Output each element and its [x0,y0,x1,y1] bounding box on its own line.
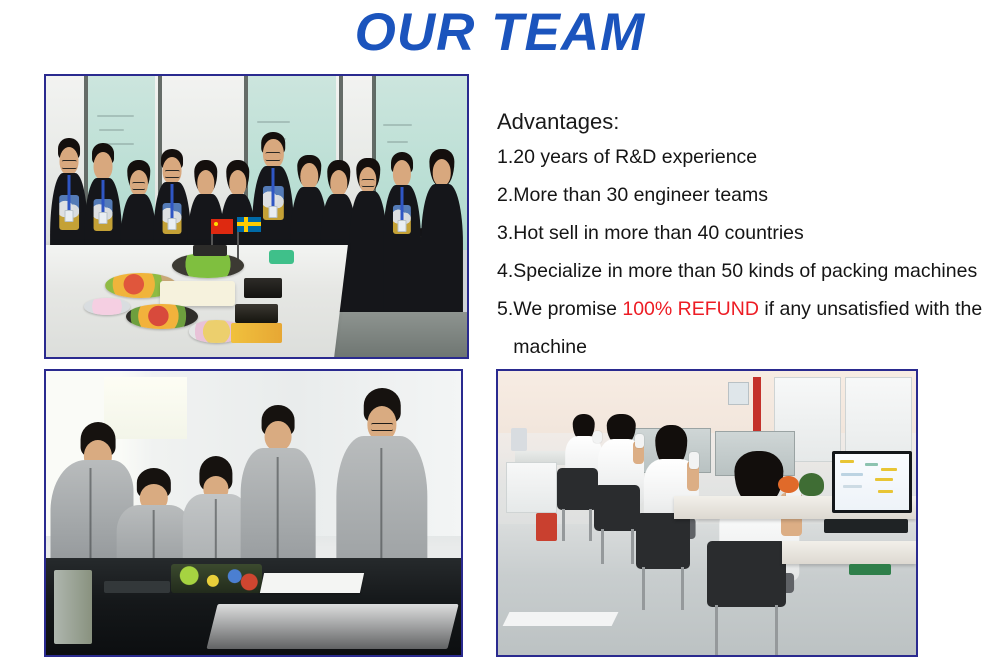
advantages-block: Advantages: 1. 20 years of R&D experienc… [497,106,1000,366]
list-item: 1. 20 years of R&D experience [497,138,1000,176]
list-item-text: 20 years of R&D experience [513,138,1000,176]
engineers-photo [44,369,463,657]
list-item-text: More than 30 engineer teams [513,176,1000,214]
office-photo [496,369,918,657]
monitor-icon [832,451,911,513]
list-item-number: 3. [497,214,513,252]
list-item-number: 4. [497,252,513,290]
list-item-text: Specialize in more than 50 kinds of pack… [513,252,1000,290]
office-photo-content [498,371,916,655]
our-team-section: OUR TEAM [0,0,1000,666]
refund-text-before: We promise [513,298,622,320]
plant-icon [799,473,824,496]
list-item-number: 1. [497,138,513,176]
list-item: 5. We promise 100% REFUND if any unsatis… [497,290,1000,366]
list-item-number: 2. [497,176,513,214]
list-item: 4. Specialize in more than 50 kinds of p… [497,252,1000,290]
list-item: 3. Hot sell in more than 40 countries [497,214,1000,252]
advantages-list: 1. 20 years of R&D experience 2. More th… [497,138,1000,366]
refund-highlight: 100% REFUND [622,298,759,320]
keyboard-icon [824,519,908,533]
team-group-photo [44,74,469,359]
engineers-photo-content [46,371,461,655]
page-title: OUR TEAM [0,4,1000,62]
list-item-text: We promise 100% REFUND if any unsatisfie… [513,290,1000,366]
list-item: 2. More than 30 engineer teams [497,176,1000,214]
advantages-heading: Advantages: [497,106,1000,138]
team-group-photo-content [46,76,467,357]
list-item-text: Hot sell in more than 40 countries [513,214,1000,252]
list-item-number: 5. [497,290,513,328]
